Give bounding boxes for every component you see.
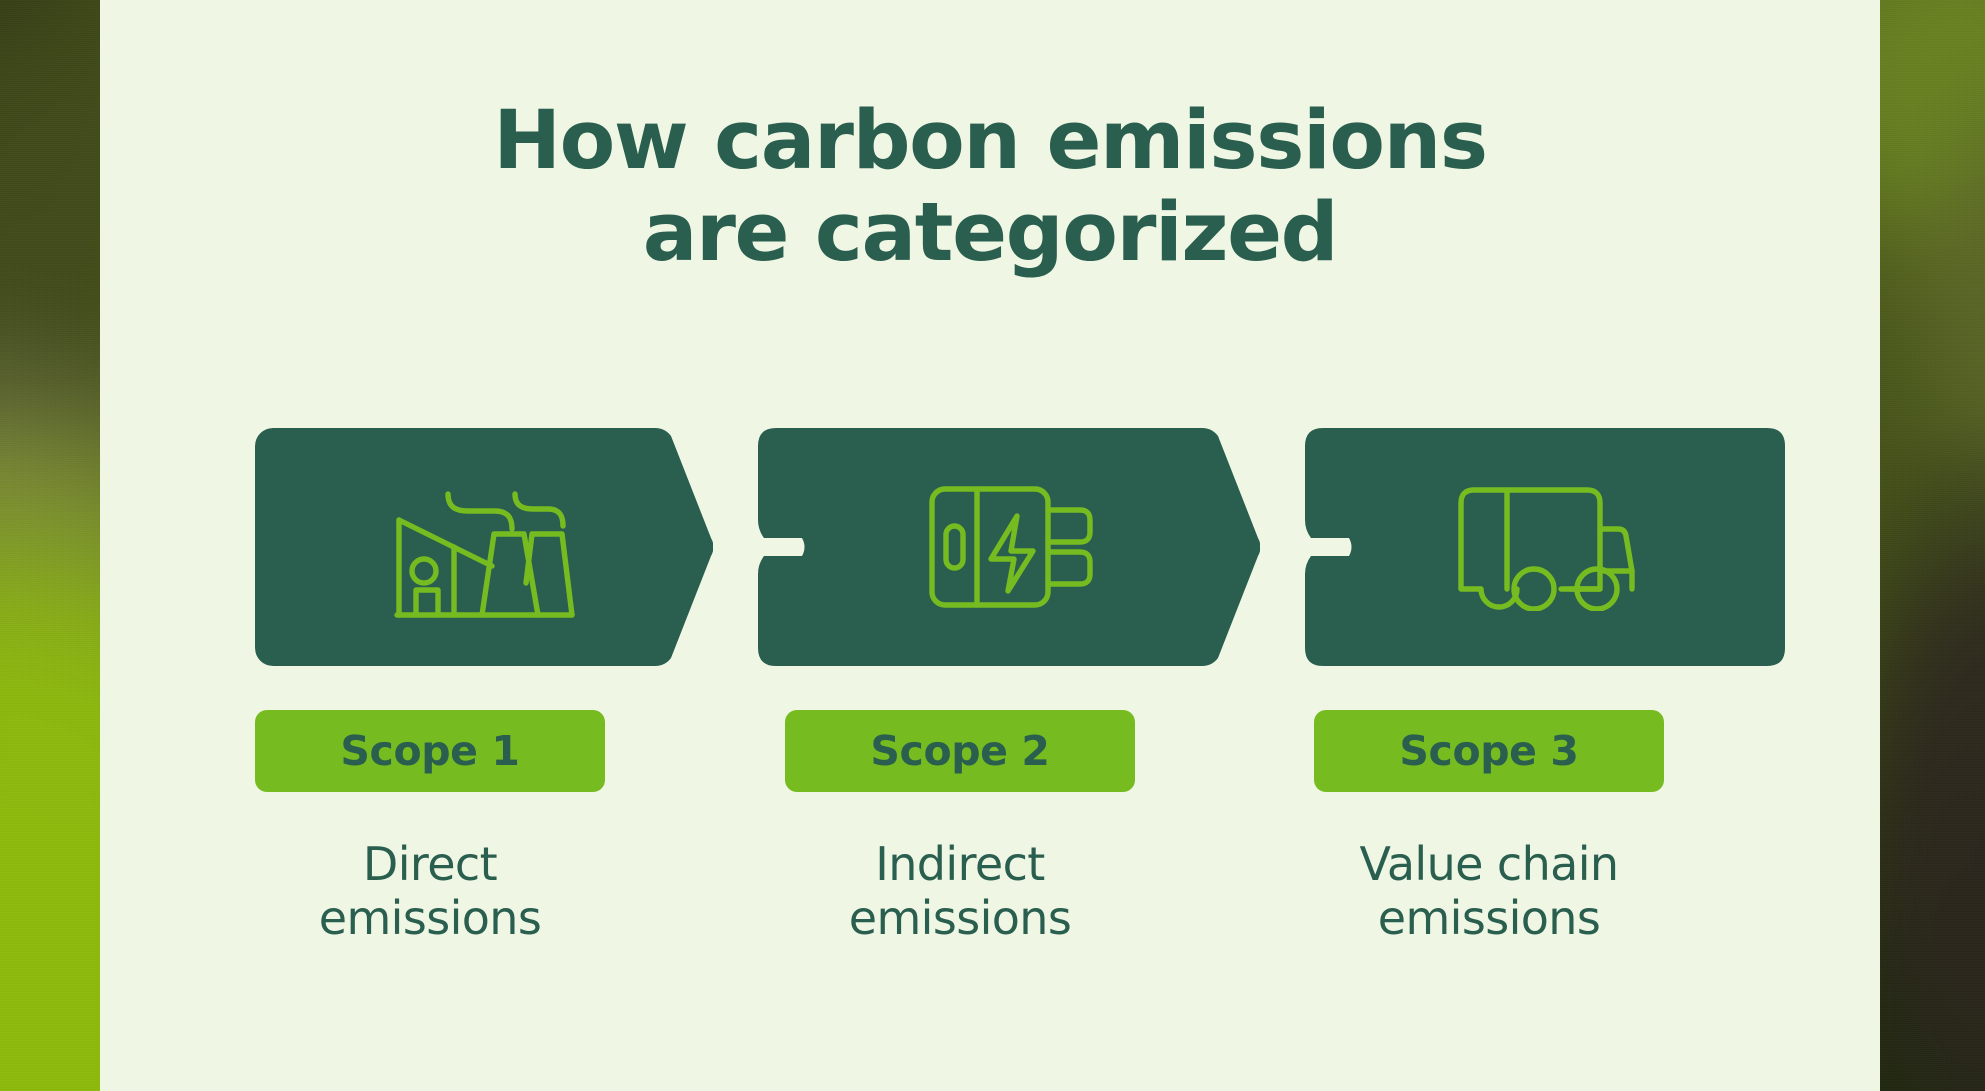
scope-2-banner (758, 428, 1260, 666)
scope-2-badge[interactable]: Scope 2 (785, 710, 1135, 792)
scope-3-banner (1305, 428, 1785, 666)
delivery-truck-icon (1455, 483, 1637, 611)
scope-2-badge-label: Scope 2 (870, 727, 1049, 775)
scope-3-caption-line-2: emissions (1314, 892, 1664, 946)
power-plug-icon (928, 481, 1096, 613)
factory-icon (391, 472, 577, 622)
page-title-line-1: How carbon emissions (100, 96, 1880, 188)
scope-1-badge-label: Scope 1 (340, 727, 519, 775)
content-panel: How carbon emissions are categorized (100, 0, 1880, 1091)
scope-1-caption-line-1: Direct (255, 838, 605, 892)
scope-3-badge[interactable]: Scope 3 (1314, 710, 1664, 792)
scope-2-caption-line-2: emissions (785, 892, 1135, 946)
scope-1-caption: Direct emissions (255, 838, 605, 946)
scope-2-caption-line-1: Indirect (785, 838, 1135, 892)
infographic-stage: How carbon emissions are categorized (0, 0, 1985, 1091)
scope-3-badge-label: Scope 3 (1399, 727, 1578, 775)
scope-1-caption-line-2: emissions (255, 892, 605, 946)
scope-1-badge[interactable]: Scope 1 (255, 710, 605, 792)
scope-2-caption: Indirect emissions (785, 838, 1135, 946)
scope-1-banner (255, 428, 713, 666)
scope-banner-row (100, 428, 1880, 666)
scope-3-caption: Value chain emissions (1314, 838, 1664, 946)
page-title-line-2: are categorized (100, 188, 1880, 280)
scope-3-caption-line-1: Value chain (1314, 838, 1664, 892)
page-title: How carbon emissions are categorized (100, 96, 1880, 279)
